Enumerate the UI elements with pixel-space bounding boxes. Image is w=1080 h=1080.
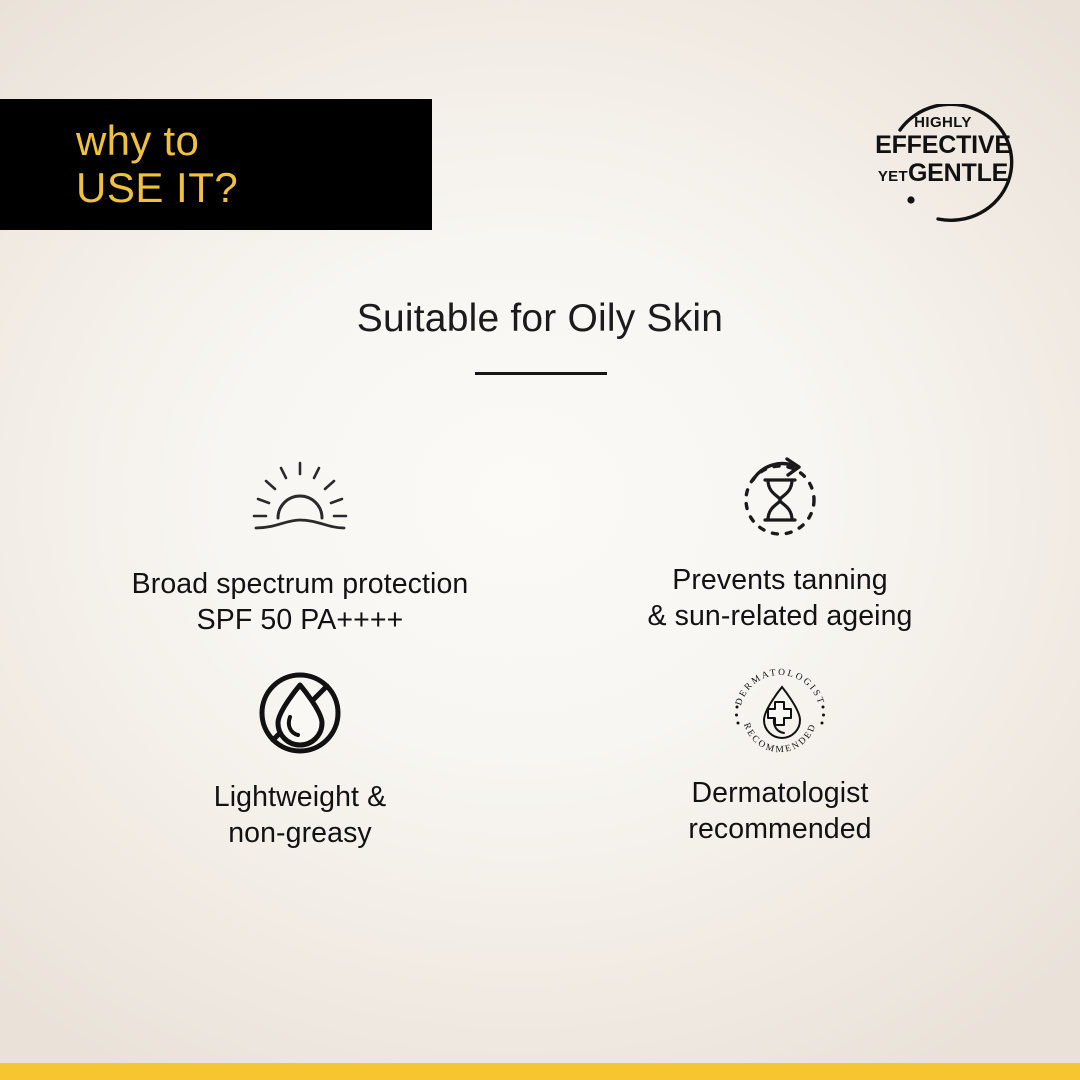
highly-effective-seal: HIGHLY EFFECTIVE YETGENTLE (872, 104, 1024, 226)
headline-line-1: why to (76, 118, 432, 164)
title-divider (475, 372, 607, 375)
seal-line-3: YETGENTLE (872, 159, 1014, 191)
seal-line-2: EFFECTIVE (872, 131, 1014, 159)
seal-line-1: HIGHLY (872, 114, 1014, 131)
seal-line-3-small: YET (878, 168, 908, 185)
promo-card: why to USE IT? HIGHLY EFFECTIVE YETGENTL… (0, 0, 1080, 1080)
seal-dot-icon (907, 196, 914, 203)
feature-label: Broad spectrum protection SPF 50 PA++++ (132, 566, 469, 638)
feature-label: Dermatologist recommended (688, 775, 871, 847)
hourglass-rotate-icon (734, 452, 826, 544)
feature-item-lightweight: Lightweight & non-greasy (60, 667, 540, 882)
headline-banner: why to USE IT? (0, 99, 432, 230)
seal-line-3-large: GENTLE (908, 159, 1008, 187)
medical-cross-icon (768, 702, 791, 725)
feature-item-dermatologist: DERMATOLOGIST RECOMMENDED (540, 667, 1020, 882)
feature-grid: Broad spectrum protection SPF 50 PA++++ (60, 452, 1020, 882)
feature-label: Lightweight & non-greasy (214, 779, 386, 851)
headline-line-2: USE IT? (76, 164, 432, 212)
feature-item-prevents-tanning: Prevents tanning & sun-related ageing (540, 452, 1020, 667)
bottom-accent-bar (0, 1063, 1080, 1080)
sunrise-icon (248, 452, 352, 544)
section-title: Suitable for Oily Skin (0, 297, 1080, 341)
feature-label: Prevents tanning & sun-related ageing (647, 562, 912, 634)
dermatologist-recommended-badge-icon: DERMATOLOGIST RECOMMENDED (724, 667, 836, 759)
seal-text-block: HIGHLY EFFECTIVE YETGENTLE (872, 114, 1014, 191)
no-oil-droplet-icon (254, 667, 346, 759)
feature-item-broad-spectrum: Broad spectrum protection SPF 50 PA++++ (60, 452, 540, 667)
